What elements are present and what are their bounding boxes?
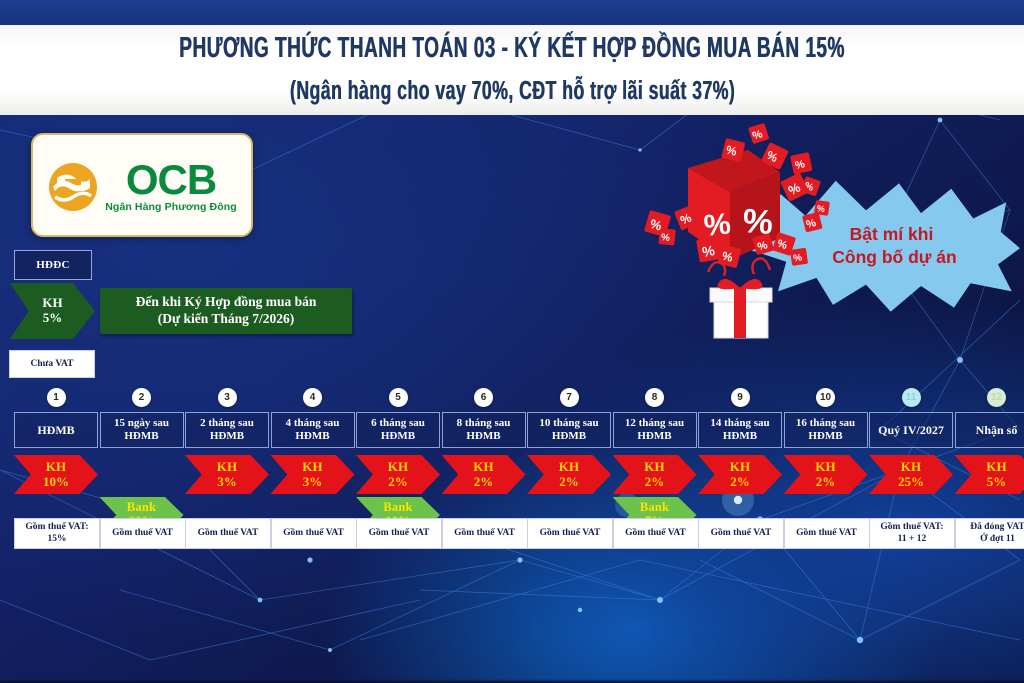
vat-note-box: Gồm thuế VAT (356, 518, 442, 549)
milestone-label-line-1: 15 ngày sau (114, 417, 169, 430)
kh-label: KH (302, 460, 323, 474)
milestone-label: 2 tháng sauHĐMB (185, 412, 269, 448)
ocb-logo-mark-icon (47, 161, 99, 213)
kh-percent: 2% (559, 475, 579, 489)
step-number-badge: 8 (645, 388, 664, 407)
ocb-logo-card: OCB Ngân Hàng Phương Đông (31, 133, 253, 237)
step-number-badge: 1 (47, 388, 66, 407)
milestone-label-line-1: 14 tháng sau (710, 417, 769, 430)
vat-note-box: Gồm thuế VAT (784, 518, 870, 549)
payment-timeline: 1HĐMBKH10%Gồm thuế VAT:15%215 ngày sauHĐ… (0, 388, 1024, 558)
kh-label: KH (986, 460, 1007, 474)
step-number-badge: 5 (389, 388, 408, 407)
kh-label: KH (730, 460, 751, 474)
signing-milestone-line-2: (Dự kiến Tháng 7/2026) (158, 311, 295, 328)
vat-note-line-1: Gồm thuế VAT: (880, 522, 943, 534)
milestone-label-line-2: HĐMB (210, 430, 244, 443)
customer-payment-arrow: KH2% (442, 455, 526, 494)
signing-milestone-line-1: Đến khi Ký Hợp đồng mua bán (136, 294, 317, 311)
promo-line-1: Bật mí khi (850, 223, 934, 246)
vat-note-line-2: 15% (48, 534, 67, 546)
page-title-line-2: (Ngân hàng cho vay 70%, CĐT hỗ trợ lãi s… (289, 79, 734, 105)
vat-note-line-1: Gồm thuế VAT (540, 528, 601, 540)
milestone-label: 16 tháng sauHĐMB (784, 412, 868, 448)
chua-vat-box: Chưa VAT (9, 350, 95, 378)
milestone-label: 4 tháng sauHĐMB (271, 412, 355, 448)
kh-percent: 5% (987, 475, 1007, 489)
milestone-label-line-2: HĐMB (124, 430, 158, 443)
bank-label: Bank (640, 501, 669, 515)
milestone-label: Quý IV/2027 (869, 412, 953, 448)
vat-note-box: Đã đóng VATỞ đợt 11 (955, 518, 1024, 549)
step-number-badge: 11 (902, 388, 921, 407)
ocb-wordmark: OCB (126, 161, 216, 200)
timeline-column-3: 32 tháng sauHĐMBKH3%Gồm thuế VAT (185, 388, 269, 494)
vat-note-line-1: Gồm thuế VAT (112, 528, 173, 540)
milestone-label-line-1: 10 tháng sau (539, 417, 598, 430)
timeline-column-5: 56 tháng sauHĐMBKH2%Bank10%Gồm thuế VAT (356, 388, 440, 533)
kh-percent: 3% (217, 475, 237, 489)
milestone-label: HĐMB (14, 412, 98, 448)
customer-payment-arrow: KH2% (698, 455, 782, 494)
customer-payment-arrow: KH5% (955, 455, 1024, 494)
vat-note-box: Gồm thuế VAT:11 + 12 (869, 518, 955, 549)
promo-gift-and-percent-dice-graphic: % % % % % % % % % % % % % % % % % % (630, 120, 860, 350)
vat-note-line-1: Gồm thuế VAT: (25, 522, 88, 534)
step-number-badge: 9 (731, 388, 750, 407)
step-number-badge: 6 (474, 388, 493, 407)
vat-note-line-1: Gồm thuế VAT (283, 528, 344, 540)
kh-label: KH (901, 460, 922, 474)
kh-label: KH (388, 460, 409, 474)
milestone-label-line-2: HĐMB (381, 430, 415, 443)
svg-text:%: % (793, 252, 803, 264)
milestone-label-line-1: 12 tháng sau (625, 417, 684, 430)
customer-payment-arrow: KH3% (271, 455, 355, 494)
milestone-label-line-1: 2 tháng sau (200, 417, 254, 430)
milestone-label-line-2: HĐMB (466, 430, 500, 443)
step-number-badge: 12 (987, 388, 1006, 407)
milestone-label: 14 tháng sauHĐMB (698, 412, 782, 448)
timeline-column-12: 12Nhận sổKH5%Đã đóng VATỞ đợt 11 (955, 388, 1024, 494)
timeline-column-2: 215 ngày sauHĐMBBank20%Gồm thuế VAT (100, 388, 184, 533)
kh-percent: 2% (816, 475, 836, 489)
svg-text:%: % (660, 232, 670, 244)
signing-milestone-banner: Đến khi Ký Hợp đồng mua bán (Dự kiến Thá… (100, 288, 352, 334)
vat-note-line-1: Gồm thuế VAT (454, 528, 515, 540)
kh-percent: 3% (303, 475, 323, 489)
milestone-label-line-1: Quý IV/2027 (878, 423, 944, 437)
vat-note-box: Gồm thuế VAT (185, 518, 271, 549)
kh-percent: 2% (474, 475, 494, 489)
customer-payment-arrow: KH10% (14, 455, 98, 494)
timeline-column-9: 914 tháng sauHĐMBKH2%Gồm thuế VAT (698, 388, 782, 494)
customer-payment-arrow: KH2% (784, 455, 868, 494)
vat-note-line-1: Gồm thuế VAT (369, 528, 430, 540)
bank-label: Bank (127, 501, 156, 515)
kh-percent: 25% (898, 475, 924, 489)
kh-percent: 2% (388, 475, 408, 489)
customer-payment-arrow: KH3% (185, 455, 269, 494)
kh-percent: 2% (645, 475, 665, 489)
timeline-column-10: 1016 tháng sauHĐMBKH2%Gồm thuế VAT (784, 388, 868, 494)
kh-percent: 2% (730, 475, 750, 489)
milestone-label: Nhận sổ (955, 412, 1024, 448)
customer-payment-arrow: KH2% (356, 455, 440, 494)
kh-label: KH (815, 460, 836, 474)
vat-note-line-1: Đã đóng VAT (970, 522, 1024, 534)
vat-note-line-1: Gồm thuế VAT (796, 528, 857, 540)
kh-label: KH (217, 460, 238, 474)
page-title-banner: PHƯƠNG THỨC THANH TOÁN 03 - KÝ KẾT HỢP Đ… (0, 25, 1024, 115)
vat-note-line-1: Gồm thuế VAT (711, 528, 772, 540)
hddc-box: HĐĐC (14, 250, 92, 280)
timeline-column-8: 812 tháng sauHĐMBKH2%Bank7%Gồm thuế VAT (613, 388, 697, 533)
timeline-column-6: 68 tháng sauHĐMBKH2%Gồm thuế VAT (442, 388, 526, 494)
milestone-label: 12 tháng sauHĐMB (613, 412, 697, 448)
milestone-label: 8 tháng sauHĐMB (442, 412, 526, 448)
vat-note-line-1: Gồm thuế VAT (625, 528, 686, 540)
milestone-label-line-2: HĐMB (552, 430, 586, 443)
gift-box-icon (708, 258, 772, 338)
milestone-label-line-1: 4 tháng sau (286, 417, 340, 430)
vat-note-line-2: 11 + 12 (898, 534, 927, 546)
customer-payment-arrow: KH2% (613, 455, 697, 494)
milestone-label-line-2: HĐMB (723, 430, 757, 443)
vat-note-box: Gồm thuế VAT:15% (14, 518, 100, 549)
kh-label: KH (46, 460, 67, 474)
kh-label: KH (473, 460, 494, 474)
payment-schedule-infographic: PHƯƠNG THỨC THANH TOÁN 03 - KÝ KẾT HỢP Đ… (0, 0, 1024, 683)
milestone-label-line-2: HĐMB (808, 430, 842, 443)
milestone-label-line-1: HĐMB (37, 423, 74, 437)
top-bar (0, 0, 1024, 25)
timeline-column-1: 1HĐMBKH10%Gồm thuế VAT:15% (14, 388, 98, 494)
step-number-badge: 3 (218, 388, 237, 407)
vat-note-line-1: Gồm thuế VAT (198, 528, 259, 540)
kh-label: KH (644, 460, 665, 474)
milestone-label-line-1: 8 tháng sau (457, 417, 511, 430)
timeline-column-7: 710 tháng sauHĐMBKH2%Gồm thuế VAT (527, 388, 611, 494)
milestone-label: 15 ngày sauHĐMB (100, 412, 184, 448)
milestone-label-line-1: 16 tháng sau (796, 417, 855, 430)
milestone-label-line-1: Nhận sổ (976, 423, 1018, 437)
kh-label: KH (559, 460, 580, 474)
milestone-label-line-2: HĐMB (637, 430, 671, 443)
vat-note-line-2: Ở đợt 11 (980, 534, 1015, 546)
ocb-tagline: Ngân Hàng Phương Đông (105, 201, 237, 213)
milestone-label-line-2: HĐMB (295, 430, 329, 443)
timeline-column-4: 44 tháng sauHĐMBKH3%Gồm thuế VAT (271, 388, 355, 494)
bank-label: Bank (383, 501, 412, 515)
milestone-label: 10 tháng sauHĐMB (527, 412, 611, 448)
customer-payment-arrow: KH2% (527, 455, 611, 494)
step-number-badge: 10 (816, 388, 835, 407)
vat-note-box: Gồm thuế VAT (100, 518, 186, 549)
vat-note-box: Gồm thuế VAT (698, 518, 784, 549)
bottom-edge (0, 679, 1024, 683)
vat-note-box: Gồm thuế VAT (442, 518, 528, 549)
kh-percent: 10% (43, 475, 69, 489)
page-title-line-1: PHƯƠNG THỨC THANH TOÁN 03 - KÝ KẾT HỢP Đ… (179, 35, 845, 63)
vat-note-box: Gồm thuế VAT (527, 518, 613, 549)
prestage-kh-label: KH (42, 296, 62, 311)
step-number-badge: 7 (560, 388, 579, 407)
timeline-column-11: 11Quý IV/2027KH25%Gồm thuế VAT:11 + 12 (869, 388, 953, 494)
prestage-kh-percent: 5% (43, 311, 63, 326)
milestone-label: 6 tháng sauHĐMB (356, 412, 440, 448)
customer-payment-arrow: KH25% (869, 455, 953, 494)
step-number-badge: 4 (303, 388, 322, 407)
milestone-label-line-1: 6 tháng sau (371, 417, 425, 430)
step-number-badge: 2 (132, 388, 151, 407)
vat-note-box: Gồm thuế VAT (613, 518, 699, 549)
vat-note-box: Gồm thuế VAT (271, 518, 357, 549)
